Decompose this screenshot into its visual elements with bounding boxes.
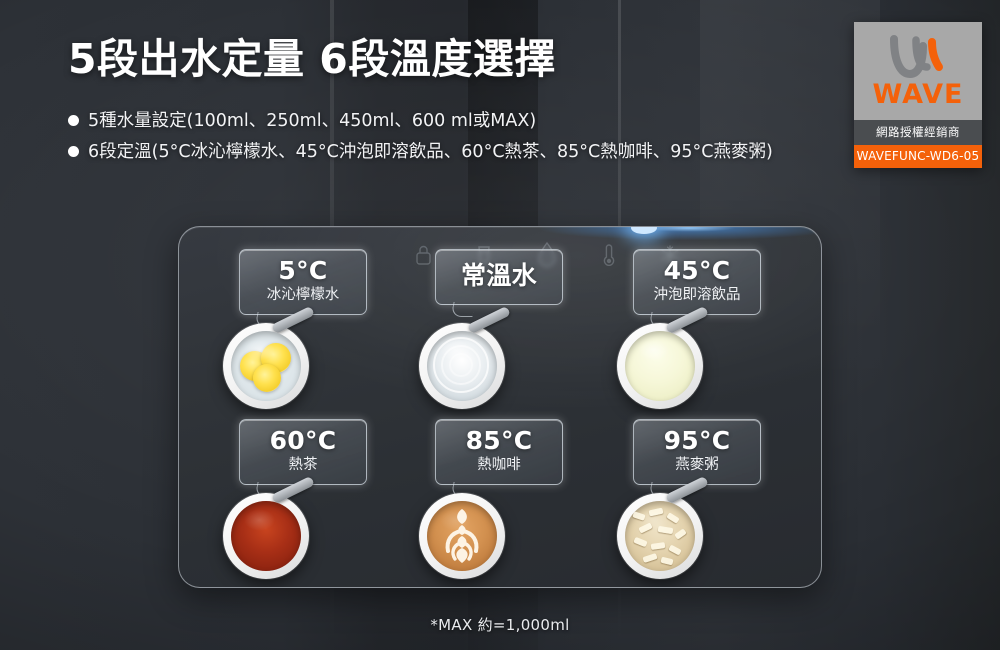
liquid-oatmeal <box>625 501 695 571</box>
callout-45c: 45°C 沖泡即溶飲品 <box>633 249 761 315</box>
option-cell-room-temp: 常溫水 <box>401 241 601 411</box>
authorized-dealer-label: 網路授權經銷商 <box>854 120 982 145</box>
temperature-description: 沖泡即溶飲品 <box>650 286 744 306</box>
header: 5段出水定量 6段溫度選擇 5種水量設定(100ml、250ml、450ml、6… <box>68 36 848 170</box>
temperature-description: 熱茶 <box>256 456 350 476</box>
temperature-options-panel: 5°C 冰沁檸檬水 常溫水 <box>178 226 822 588</box>
temperature-value: 60°C <box>256 427 350 455</box>
feature-bullet-list: 5種水量設定(100ml、250ml、450ml、600 ml或MAX) 6段定… <box>68 108 848 166</box>
liquid-water <box>427 331 497 401</box>
liquid-sheen <box>238 505 281 534</box>
vessel-milk-beverage <box>617 323 703 409</box>
oat-flake <box>668 545 681 556</box>
liquid-coffee <box>427 501 497 571</box>
oat-flake <box>658 526 674 534</box>
oat-flake <box>633 537 647 547</box>
vessel-room-temp-water <box>419 323 505 409</box>
vessel-oatmeal <box>617 493 703 579</box>
option-cell-45c: 45°C 沖泡即溶飲品 <box>599 241 799 411</box>
page-title: 5段出水定量 6段溫度選擇 <box>68 36 848 83</box>
bullet-dot-icon <box>68 115 79 126</box>
bullet-text: 5種水量設定(100ml、250ml、450ml、600 ml或MAX) <box>88 108 536 135</box>
callout-85c: 85°C 熱咖啡 <box>435 419 563 485</box>
brand-badge: WAVE 網路授權經銷商 WAVEFUNC-WD6-05 <box>854 22 982 168</box>
temperature-value: 45°C <box>650 257 744 285</box>
liquid-lemon-water <box>231 331 301 401</box>
oat-flake <box>649 508 664 517</box>
infographic-page: 5段出水定量 6段溫度選擇 5種水量設定(100ml、250ml、450ml、6… <box>0 0 1000 650</box>
model-code-label: WAVEFUNC-WD6-05 <box>854 145 982 168</box>
temperature-description: 冰沁檸檬水 <box>256 286 350 306</box>
temperature-value: 95°C <box>650 427 744 455</box>
liquid-tea <box>231 501 301 571</box>
option-row-top: 5°C 冰沁檸檬水 常溫水 <box>179 241 821 411</box>
oat-flake <box>660 557 673 566</box>
temperature-value: 常溫水 <box>452 262 546 290</box>
callout-room-temp: 常溫水 <box>435 249 563 305</box>
option-cell-95c: 95°C 燕麥粥 <box>599 411 799 581</box>
temperature-value: 5°C <box>256 257 350 285</box>
temperature-value: 85°C <box>452 427 546 455</box>
oat-flake <box>666 512 679 523</box>
wave-logo-icon <box>886 34 950 80</box>
temperature-description: 燕麥粥 <box>650 456 744 476</box>
liquid-milk <box>625 331 695 401</box>
list-item: 6段定溫(5°C冰沁檸檬水、45°C沖泡即溶飲品、60°C熱茶、85°C熱咖啡、… <box>68 139 848 166</box>
oat-flake <box>638 522 652 533</box>
option-cell-85c: 85°C 熱咖啡 <box>401 411 601 581</box>
footnote: *MAX 約=1,000ml <box>0 614 1000 635</box>
lemon-slice <box>253 364 281 392</box>
liquid-sheen <box>632 335 675 364</box>
option-cell-5c: 5°C 冰沁檸檬水 <box>205 241 405 411</box>
latte-art-icon <box>427 501 497 571</box>
blue-light-core <box>631 226 657 234</box>
bullet-text: 6段定溫(5°C冰沁檸檬水、45°C沖泡即溶飲品、60°C熱茶、85°C熱咖啡、… <box>88 139 773 166</box>
oat-flake <box>632 511 645 520</box>
callout-tail <box>450 302 475 317</box>
brand-logo-plate: WAVE <box>854 22 982 120</box>
callout-5c: 5°C 冰沁檸檬水 <box>239 249 367 315</box>
option-row-bottom: 60°C 熱茶 85°C 熱咖啡 <box>179 411 821 581</box>
temperature-description: 熱咖啡 <box>452 456 546 476</box>
brand-wordmark: WAVE <box>873 81 964 108</box>
water-ring <box>449 353 473 377</box>
oat-flake <box>674 528 686 539</box>
list-item: 5種水量設定(100ml、250ml、450ml、600 ml或MAX) <box>68 108 848 135</box>
callout-95c: 95°C 燕麥粥 <box>633 419 761 485</box>
vessel-lemon-water <box>223 323 309 409</box>
oat-flake <box>651 542 666 550</box>
callout-60c: 60°C 熱茶 <box>239 419 367 485</box>
vessel-hot-coffee <box>419 493 505 579</box>
option-cell-60c: 60°C 熱茶 <box>205 411 405 581</box>
bullet-dot-icon <box>68 146 79 157</box>
vessel-hot-tea <box>223 493 309 579</box>
oat-flake <box>642 553 657 563</box>
